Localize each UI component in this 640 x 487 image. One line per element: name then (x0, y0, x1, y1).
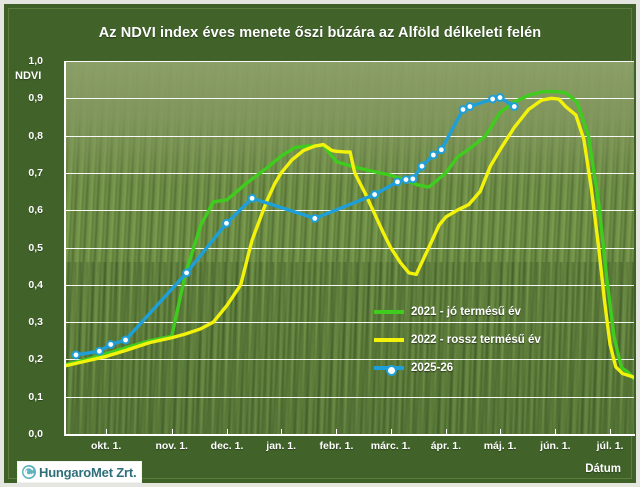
data-point-marker[interactable] (183, 269, 190, 276)
y-tick (64, 285, 69, 286)
chart-legend: 2021 - jó termésű év 2022 - rossz termés… (374, 298, 541, 382)
hungaromet-logo[interactable]: HungaroMet Zrt. (17, 461, 142, 483)
y-tick (64, 397, 69, 398)
y-tick (64, 61, 69, 62)
legend-item-2021[interactable]: 2021 - jó termésű év (374, 298, 541, 326)
y-tick-label: 1,0 (3, 55, 43, 67)
data-point-marker[interactable] (122, 337, 129, 344)
data-point-marker[interactable] (249, 195, 256, 202)
x-tick-label: márc. 1. (371, 440, 411, 452)
y-tick (64, 322, 69, 323)
x-tick-label: dec. 1. (211, 440, 244, 452)
chart-frame: Az NDVI index éves menete őszi búzára az… (0, 0, 640, 487)
x-tick-label: júl. 1. (597, 440, 624, 452)
chart-title: Az NDVI index éves menete őszi búzára az… (9, 25, 631, 41)
y-tick-label: 0,0 (3, 428, 43, 440)
x-axis-line (64, 434, 635, 436)
legend-item-2025-26[interactable]: 2025-26 (374, 354, 541, 382)
data-point-marker[interactable] (223, 220, 230, 227)
data-point-marker[interactable] (489, 96, 496, 103)
data-point-marker[interactable] (460, 106, 467, 113)
data-point-marker[interactable] (430, 152, 437, 159)
y-tick (64, 173, 69, 174)
legend-label-2021: 2021 - jó termésű év (411, 306, 521, 318)
data-point-marker[interactable] (409, 175, 416, 182)
legend-swatch-2022 (374, 338, 404, 342)
y-tick-label: 0,9 (3, 92, 43, 104)
legend-label-2022: 2022 - rossz termésű év (411, 334, 541, 346)
y-tick-label: 0,2 (3, 353, 43, 365)
y-tick-label: 0,6 (3, 204, 43, 216)
y-tick-label: 0,7 (3, 167, 43, 179)
x-tick-label: jan. 1. (266, 440, 296, 452)
series-layer (64, 61, 634, 434)
legend-swatch-2021 (374, 310, 404, 314)
x-tick-label: febr. 1. (320, 440, 354, 452)
y-tick-label: 0,5 (3, 242, 43, 254)
data-point-marker[interactable] (311, 215, 318, 222)
y-tick-label: 0,8 (3, 130, 43, 142)
y-tick (64, 98, 69, 99)
data-point-marker[interactable] (438, 146, 445, 153)
chart-panel: Az NDVI index éves menete őszi búzára az… (8, 8, 632, 479)
x-tick-label: ápr. 1. (431, 440, 461, 452)
y-tick (64, 434, 69, 435)
legend-swatch-2025-26 (374, 366, 404, 370)
spiral-icon (21, 464, 37, 480)
y-tick (64, 359, 69, 360)
x-tick-label: máj. 1. (484, 440, 517, 452)
series-line-2021---jó-termésű-év (64, 92, 634, 379)
y-tick-label: 0,4 (3, 279, 43, 291)
logo-text: HungaroMet Zrt. (39, 465, 136, 480)
y-tick (64, 248, 69, 249)
data-point-marker[interactable] (73, 352, 80, 359)
legend-label-2025-26: 2025-26 (411, 362, 453, 374)
plot-area (64, 61, 634, 434)
x-tick-label: okt. 1. (91, 440, 121, 452)
y-tick-label: 0,3 (3, 316, 43, 328)
x-tick-label: jún. 1. (540, 440, 570, 452)
data-point-marker[interactable] (511, 103, 518, 110)
legend-item-2022[interactable]: 2022 - rossz termésű év (374, 326, 541, 354)
data-point-marker[interactable] (371, 191, 378, 198)
y-axis-title: NDVI (15, 70, 41, 82)
series-line-2022---rossz-termésű-év (64, 98, 634, 377)
data-point-marker[interactable] (419, 163, 426, 170)
data-point-marker[interactable] (96, 348, 103, 355)
y-tick (64, 210, 69, 211)
y-tick (64, 136, 69, 137)
y-tick-label: 0,1 (3, 391, 43, 403)
data-point-marker[interactable] (107, 341, 114, 348)
x-tick-label: nov. 1. (155, 440, 187, 452)
x-axis-title: Dátum (585, 463, 621, 475)
data-point-marker[interactable] (403, 176, 410, 183)
data-point-marker[interactable] (466, 103, 473, 110)
data-point-marker[interactable] (497, 94, 504, 101)
data-point-marker[interactable] (394, 178, 401, 185)
